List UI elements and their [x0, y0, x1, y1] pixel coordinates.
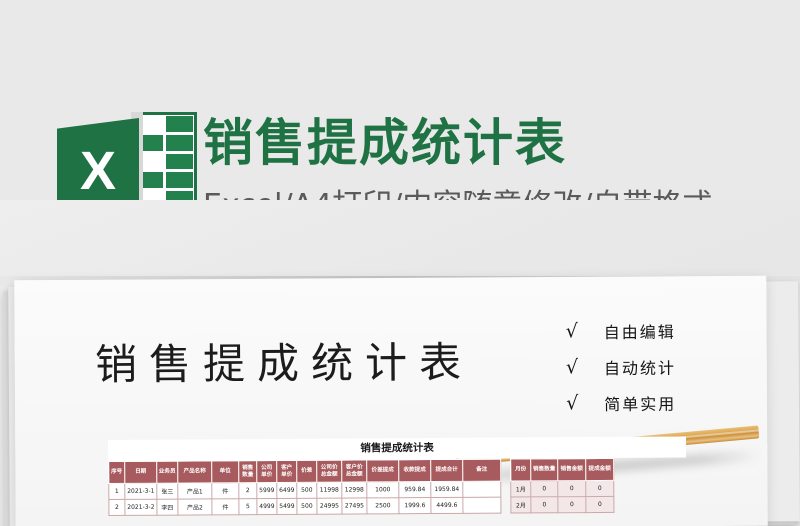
- feature-label: 自由编辑: [604, 319, 676, 343]
- page-title: 销售提成统计表: [203, 117, 567, 170]
- feature-list: √ 自由编辑 √ 自动统计 √ 简单实用: [566, 320, 677, 429]
- column-header: 产品名称: [178, 461, 212, 483]
- table-cell: 2: [239, 483, 257, 499]
- table-cell: 4499.6: [431, 497, 463, 513]
- feature-label: 自动统计: [604, 355, 676, 379]
- column-header: 客户价总金额: [342, 460, 367, 482]
- column-header: 业务员: [157, 461, 178, 483]
- list-item: √ 自由编辑: [566, 320, 676, 343]
- table-cell: 2021-3-1: [125, 483, 157, 499]
- column-header: 收款提成: [399, 460, 431, 482]
- sheet-title: 销售提成统计表: [95, 329, 473, 392]
- table-cell: 2: [109, 499, 125, 515]
- table-cell: 2500: [367, 498, 399, 514]
- column-header: 提成金额: [586, 458, 614, 480]
- table-row: 22021-3-2李四产品2件5499954995002499527495250…: [109, 497, 501, 515]
- table-cell: 件: [212, 499, 239, 515]
- table-row: 1月000: [511, 480, 614, 497]
- check-icon: √: [566, 358, 588, 377]
- column-header: 日期: [125, 461, 157, 483]
- table-cell: 0: [531, 481, 558, 497]
- table-cell: 1: [109, 483, 125, 499]
- column-header: 销售数量: [239, 461, 257, 483]
- column-header: 客户单价: [277, 460, 297, 482]
- page-root: X 销售提成统计表 Excel/A4打印/内容随意修改/自带格式 销售提成统计表…: [0, 0, 800, 526]
- column-header: 价差提成: [367, 460, 399, 482]
- table-cell: 5499: [277, 498, 297, 514]
- spreadsheet-preview: 销售提成统计表 序号日期业务员产品名称单位销售数量公司单价客户单价价差公司价总金…: [108, 436, 686, 516]
- table-cell: 6499: [277, 482, 297, 498]
- table-cell: 0: [586, 480, 614, 496]
- table-header-row: 月份销售数量销售金额提成金额: [511, 458, 614, 481]
- column-header: 销售数量: [531, 459, 558, 481]
- column-header: 公司价总金额: [317, 460, 342, 482]
- check-icon: √: [566, 394, 588, 413]
- table-cell: 0: [531, 497, 558, 513]
- table-cell: [463, 497, 501, 513]
- check-icon: √: [566, 322, 588, 341]
- list-item: √ 自动统计: [566, 356, 676, 379]
- table-cell: 产品2: [178, 499, 212, 515]
- table-cell: 产品1: [178, 483, 212, 499]
- table-row: 2月000: [511, 496, 614, 513]
- table-cell: 1月: [511, 481, 531, 497]
- column-header: 备注: [463, 459, 501, 481]
- bottom-mask: [0, 520, 800, 526]
- sales-table: 序号日期业务员产品名称单位销售数量公司单价客户单价价差公司价总金额客户价总金额价…: [108, 459, 501, 516]
- column-header: 价差: [297, 460, 317, 482]
- table-cell: 4999: [257, 498, 277, 514]
- column-header: 公司单价: [257, 460, 277, 482]
- table-cell: 5999: [257, 482, 277, 498]
- column-header: 月份: [511, 459, 531, 481]
- column-header: 提成合计: [431, 459, 463, 481]
- table-cell: 2月: [511, 497, 531, 513]
- column-header: 销售金额: [558, 459, 586, 481]
- table-cell: 500: [297, 482, 317, 498]
- table-cell: 1000: [367, 482, 399, 498]
- table-cell: 0: [558, 497, 586, 513]
- table-cell: 500: [297, 498, 317, 514]
- table-cell: 5: [239, 499, 257, 515]
- banner: X 销售提成统计表 Excel/A4打印/内容随意修改/自带格式: [0, 55, 800, 185]
- table-cell: [463, 481, 501, 497]
- table-cell: 12998: [342, 482, 367, 498]
- feature-label: 简单实用: [604, 391, 676, 415]
- table-cell: 0: [586, 496, 614, 512]
- column-header: 单位: [212, 461, 239, 483]
- table-cell: 27495: [342, 498, 367, 514]
- table-cell: 1959.84: [431, 481, 463, 497]
- table-cell: 李四: [157, 499, 178, 515]
- table-cell: 959.84: [399, 482, 431, 498]
- list-item: √ 简单实用: [566, 392, 676, 415]
- table-header-row: 序号日期业务员产品名称单位销售数量公司单价客户单价价差公司价总金额客户价总金额价…: [109, 459, 501, 483]
- monthly-summary-table: 月份销售数量销售金额提成金额 1月0002月000: [510, 458, 614, 514]
- table-cell: 24995: [317, 498, 342, 514]
- table-cell: 件: [212, 483, 239, 499]
- table-cell: 2021-3-2: [125, 499, 157, 515]
- table-cell: 1999.6: [399, 498, 431, 514]
- table-cell: 张三: [157, 483, 178, 499]
- table-cell: 11998: [317, 482, 342, 498]
- column-header: 序号: [109, 461, 125, 483]
- table-cell: 0: [558, 481, 586, 497]
